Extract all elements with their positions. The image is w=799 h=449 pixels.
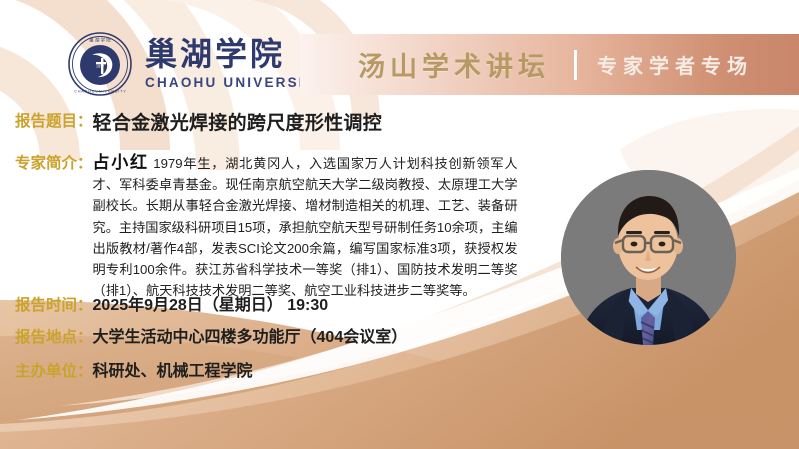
svg-text:1977: 1977 [96,64,104,69]
banner-divider-icon [574,50,577,80]
report-place-row: 报告地点： 大学生活动中心四楼多功能厅（404会议室） [15,326,407,350]
report-title-label: 报告题目： [15,110,93,133]
speaker-portrait-image [561,170,736,345]
report-place-label: 报告地点： [15,326,93,349]
speaker-portrait [561,170,736,345]
speaker-bio-body: 占小红 1979年生，湖北黄冈人，入选国家万人计划科技创新领军人才、军科委卓青基… [93,152,518,301]
university-seal-icon: 1977 巢 湖 学 院 C H A O H U U N I V E R S I… [68,32,132,96]
report-title-row: 报告题目： 轻合金激光焊接的跨尺度形性调控 [15,110,382,139]
university-logo: 1977 巢 湖 学 院 C H A O H U U N I V E R S I… [68,32,326,96]
report-host-value: 科研处、机械工程学院 [93,360,253,384]
svg-text:C H A O H U U N I V E R S I T: C H A O H U U N I V E R S I T Y [74,89,126,93]
speaker-name: 占小红 [93,153,149,172]
report-time-label: 报告时间： [15,294,93,317]
speaker-bio-row: 专家简介： 占小红 1979年生，湖北黄冈人，入选国家万人计划科技创新领军人才、… [15,152,535,301]
poster-canvas: 1977 巢 湖 学 院 C H A O H U U N I V E R S I… [0,0,799,449]
banner-subtitle: 专家学者专场 [597,50,753,79]
report-time-value: 2025年9月28日（星期日） 19:30 [93,294,329,318]
report-host-label: 主办单位： [15,360,93,383]
report-place-value: 大学生活动中心四楼多功能厅（404会议室） [93,326,408,350]
speaker-bio-label: 专家简介： [15,152,93,175]
forum-banner: 汤山学术讲坛 专家学者专场 [300,34,799,95]
svg-text:巢 湖 学 院: 巢 湖 学 院 [89,37,111,44]
banner-title: 汤山学术讲坛 [358,45,550,84]
report-time-row: 报告时间： 2025年9月28日（星期日） 19:30 [15,294,328,318]
report-title-value: 轻合金激光焊接的跨尺度形性调控 [93,110,383,139]
speaker-bio-text: 1979年生，湖北黄冈人，入选国家万人计划科技创新领军人才、军科委卓青基金。现任… [93,156,518,298]
report-host-row: 主办单位： 科研处、机械工程学院 [15,360,253,384]
